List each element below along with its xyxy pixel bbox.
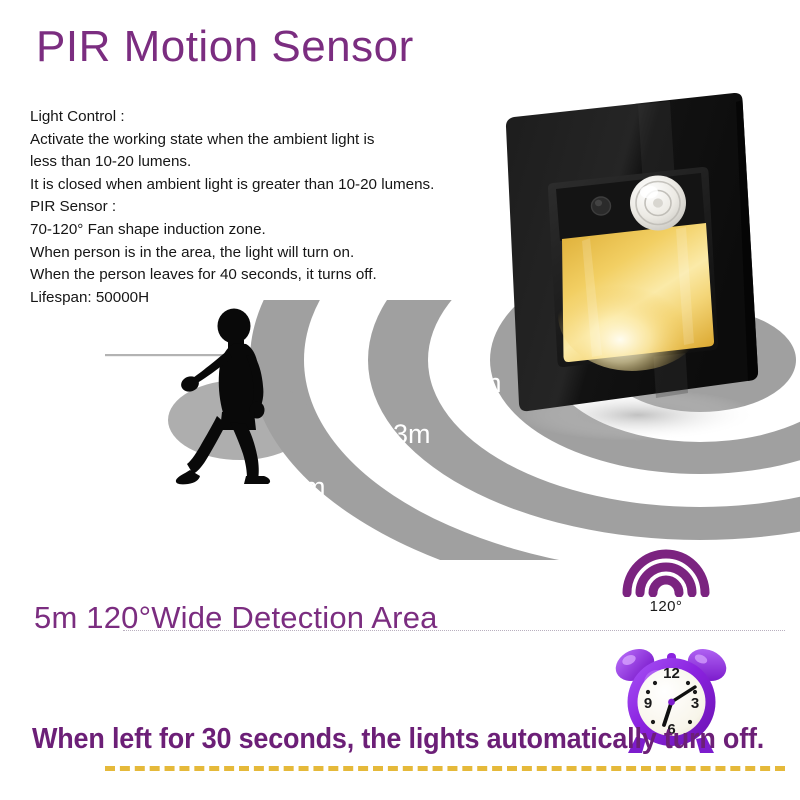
signal-indicator-group: 120° <box>608 545 724 625</box>
spec-line: Activate the working state when the ambi… <box>30 129 510 152</box>
clock-numeral-9: 9 <box>644 695 652 712</box>
spec-line: It is closed when ambient light is great… <box>30 174 510 197</box>
photocell-icon <box>592 197 611 215</box>
spec-line: PIR Sensor : <box>30 196 510 219</box>
spec-line: When the person leaves for 40 seconds, i… <box>30 264 510 287</box>
photocell-highlight <box>595 200 602 206</box>
spec-line: less than 10-20 lumens. <box>30 151 510 174</box>
page-title: PIR Motion Sensor <box>36 22 414 72</box>
signal-angle-label: 120° <box>608 598 724 615</box>
zone-label-5m: 5m <box>288 472 326 502</box>
clock-numeral-3: 3 <box>691 695 699 712</box>
detection-area-headline: 5m 120°Wide Detection Area <box>34 600 438 636</box>
product-image-recessed-step-light <box>470 75 790 445</box>
pir-dome-center <box>653 198 663 207</box>
zone-label-3m: 3m <box>393 419 431 449</box>
spec-line: Light Control : <box>30 106 510 129</box>
auto-off-headline: When left for 30 seconds, the lights aut… <box>32 723 764 756</box>
gold-dashed-rule <box>105 766 785 771</box>
signal-waves-icon <box>621 545 711 597</box>
clock-hand-pivot <box>668 699 675 706</box>
spec-line: When person is in the area, the light wi… <box>30 242 510 265</box>
specification-text-block: Light Control : Activate the working sta… <box>30 106 510 309</box>
clock-numeral-12: 12 <box>663 665 680 682</box>
pir-dome-specular <box>640 186 658 199</box>
spec-line: 70-120° Fan shape induction zone. <box>30 219 510 242</box>
infographic-page: PIR Motion Sensor Light Control : Activa… <box>0 0 800 800</box>
